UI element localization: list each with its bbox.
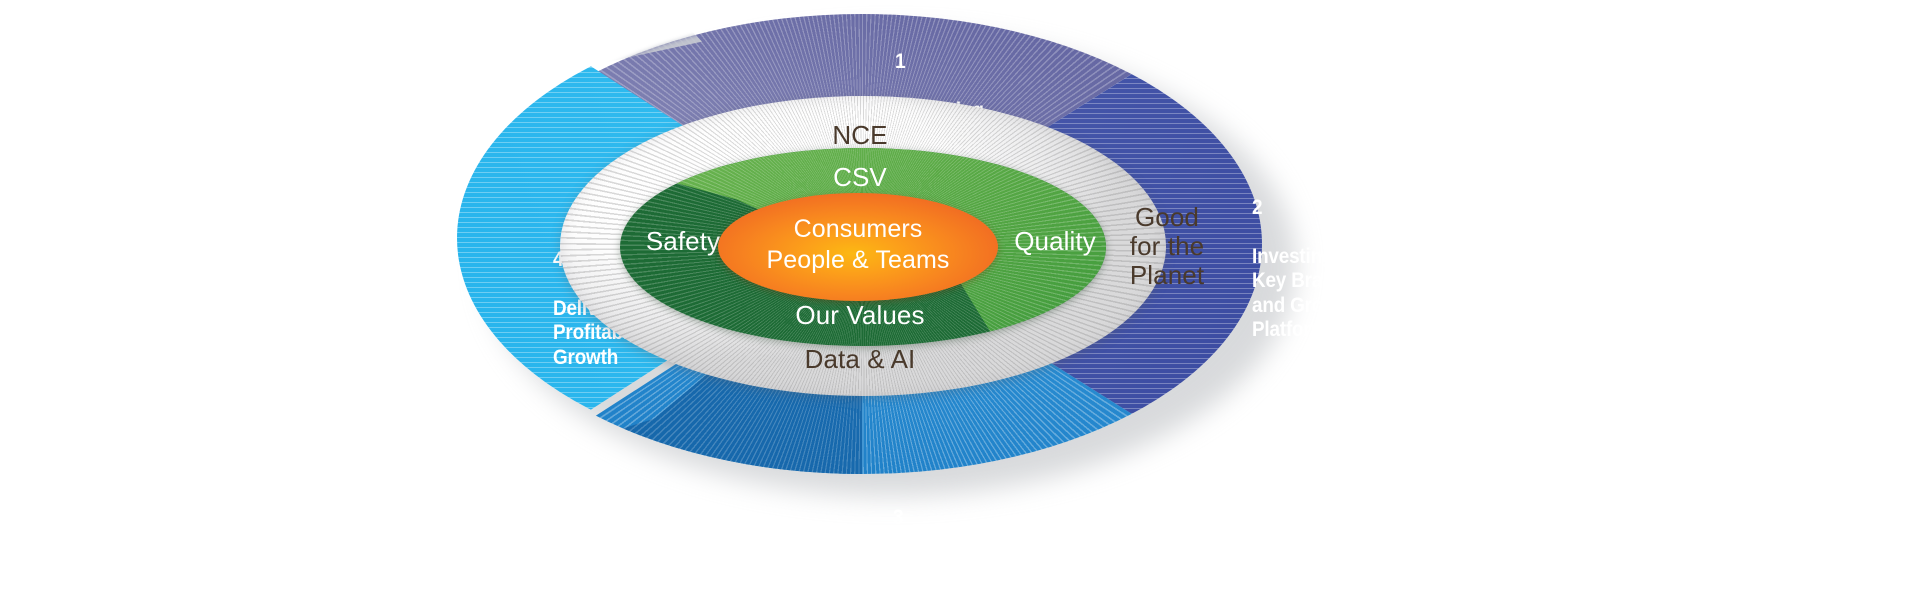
green-ring-label-top-csv: CSV xyxy=(790,163,930,192)
quadrant-2-text: Investing in Key Brands and Growth Platf… xyxy=(1252,245,1355,341)
quadrant-2-number: 2 xyxy=(1252,196,1459,220)
quadrant-3-text: Driving Market Share Gains xyxy=(893,555,1022,602)
quadrant-1-number: 1 xyxy=(895,50,1093,74)
quadrant-3-label: 3 Driving Market Share Gains xyxy=(893,482,1127,604)
diagram-canvas: 1 Achieving Efficiencies 2 Investing in … xyxy=(0,0,1920,600)
white-ring-label-right-good-for-the-planet: Good for the Planet xyxy=(1105,203,1229,290)
quadrant-2-label: 2 Investing in Key Brands and Growth Pla… xyxy=(1252,172,1459,343)
core-label-consumers-people-teams: Consumers People & Teams xyxy=(708,214,1008,275)
quadrant-3-number: 3 xyxy=(893,506,1127,530)
white-ring-label-top-nce: NCE xyxy=(790,121,930,150)
green-ring-label-bottom-our-values: Our Values xyxy=(770,301,950,330)
green-ring-label-right-quality: Quality xyxy=(1000,227,1110,256)
white-ring-label-bottom-data-and-ai: Data & AI xyxy=(790,345,930,374)
